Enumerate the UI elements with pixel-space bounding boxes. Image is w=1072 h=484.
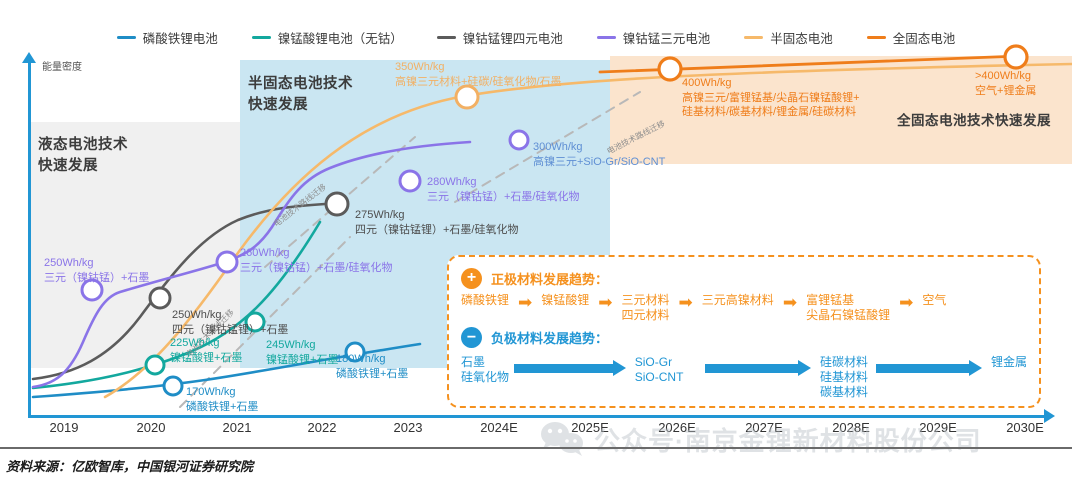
arrow-right-icon-c2: ➡ (679, 294, 693, 311)
label-ncm-280-material: 三元（镍钴锰）+石墨/硅氧化物 (427, 190, 579, 205)
cathode-header: + 正极材料发展趋势： (461, 266, 1027, 290)
label-allsolid-400-material2: 硅基材料/碳基材料/锂金属/硅碳材料 (682, 105, 860, 120)
plus-icon: + (461, 268, 482, 289)
anode-step-2-l1: 硅碳材料 (820, 355, 868, 369)
anode-step-3: 锂金属 (991, 355, 1027, 370)
xtick-2024E: 2024E (480, 420, 518, 435)
label-allsolid-over400-value: >400Wh/kg (975, 69, 1036, 84)
point-quaternary-250[interactable] (150, 288, 170, 308)
cathode-steps: 磷酸铁锂 ➡ 镍锰酸锂 ➡ 三元材料 四元材料 ➡ 三元高镍材料 ➡ 富锂锰基 (461, 293, 1027, 324)
x-axis-ticks: 2019 2020 2021 2022 2023 2024E 2025E 202… (0, 420, 1072, 442)
label-lnmo-245-value: 245Wh/kg (266, 338, 338, 353)
label-ncm-250-value: 250Wh/kg (44, 256, 149, 271)
legend-swatch-lfp (117, 36, 136, 39)
legend-label-quaternary: 镍钴锰锂四元电池 (463, 28, 563, 47)
label-ncm-280-value: 280Wh/kg (427, 175, 579, 190)
label-lfp-180: 180Wh/kg 磷酸铁锂+石墨 (336, 352, 408, 381)
anode-step-1-l1: SiO-Gr (635, 355, 672, 369)
anode-step-0-l2: 硅氧化物 (461, 370, 514, 385)
footer-divider (0, 447, 1072, 449)
anode-steps: 石墨 硅氧化物 SiO-Gr SiO-CNT 硅碳材料 硅基材料 碳基材料 (461, 355, 1027, 401)
point-allsolid-400[interactable] (659, 58, 681, 80)
cathode-step-3-l1: 三元高镍材料 (702, 293, 774, 307)
point-allsolid-over400[interactable] (1005, 46, 1027, 68)
cathode-step-4-l2: 尖晶石镍锰酸锂 (806, 308, 890, 323)
label-ncm-300-value: 300Wh/kg (533, 140, 665, 155)
anode-step-0-l1: 石墨 (461, 355, 485, 369)
anode-step-0: 石墨 硅氧化物 (461, 355, 514, 386)
label-quaternary-275-value: 275Wh/kg (355, 208, 518, 223)
label-lfp-170: 170Wh/kg 磷酸铁锂+石墨 (186, 385, 258, 414)
legend-item-lnmo[interactable]: 镍锰酸锂电池（无钴） (252, 28, 403, 47)
anode-step-2-l3: 碳基材料 (820, 385, 876, 400)
arrow-right-icon-c3: ➡ (783, 294, 797, 311)
label-semisolid-350-value: 350Wh/kg (395, 60, 562, 75)
legend-item-quaternary[interactable]: 镍钴锰锂四元电池 (437, 28, 563, 47)
label-lnmo-225-value: 225Wh/kg (170, 336, 242, 351)
legend-swatch-allsolid (867, 36, 886, 39)
label-allsolid-400-value: 400Wh/kg (682, 76, 860, 91)
chart-legend: 磷酸铁锂电池 镍锰酸锂电池（无钴） 镍钴锰锂四元电池 镍钴锰三元电池 半固态电池… (0, 24, 1072, 50)
label-lfp-180-value: 180Wh/kg (336, 352, 408, 367)
legend-label-ncm: 镍钴锰三元电池 (623, 28, 711, 47)
anode-step-3-l1: 锂金属 (991, 355, 1027, 369)
label-lfp-180-material: 磷酸铁锂+石墨 (336, 367, 408, 382)
label-ncm-260-material: 三元（镍钴锰）+石墨/硅氧化物 (240, 261, 392, 276)
label-lfp-170-material: 磷酸铁锂+石墨 (186, 400, 258, 415)
xtick-2027E: 2027E (745, 420, 783, 435)
materials-trend-box: + 正极材料发展趋势： 磷酸铁锂 ➡ 镍锰酸锂 ➡ 三元材料 四元材料 ➡ 三元 (447, 255, 1041, 408)
arrow-right-icon-a2 (876, 360, 982, 373)
cathode-step-2-l1: 三元材料 (622, 293, 670, 307)
arrow-right-icon-a0 (514, 360, 626, 373)
cathode-step-4: 富锂锰基 尖晶石镍锰酸锂 (806, 293, 890, 324)
xtick-2029E: 2029E (919, 420, 957, 435)
cathode-step-5-l1: 空气 (922, 293, 946, 307)
label-lnmo-225: 225Wh/kg 镍锰酸锂+石墨 (170, 336, 242, 365)
anode-step-2: 硅碳材料 硅基材料 碳基材料 (820, 355, 876, 401)
point-ncm-280[interactable] (400, 171, 420, 191)
label-ncm-250-material: 三元（镍钴锰）+石墨 (44, 271, 149, 286)
label-quaternary-250-value: 250Wh/kg (172, 308, 288, 323)
cathode-step-5: 空气 (922, 293, 946, 308)
label-lnmo-245-material: 镍锰酸锂+石墨 (266, 353, 338, 368)
point-quaternary-275[interactable] (326, 193, 348, 215)
legend-swatch-quaternary (437, 36, 456, 39)
label-allsolid-over400: >400Wh/kg 空气+锂金属 (975, 69, 1036, 98)
cathode-step-4-l1: 富锂锰基 (806, 293, 854, 307)
label-lfp-170-value: 170Wh/kg (186, 385, 258, 400)
legend-item-allsolid[interactable]: 全固态电池 (867, 28, 956, 47)
legend-item-ncm[interactable]: 镍钴锰三元电池 (597, 28, 711, 47)
xtick-2021: 2021 (223, 420, 252, 435)
label-ncm-260: 260Wh/kg 三元（镍钴锰）+石墨/硅氧化物 (240, 246, 392, 275)
label-allsolid-400: 400Wh/kg 高镍三元/富锂锰基/尖晶石镍锰酸锂+ 硅基材料/碳基材料/锂金… (682, 76, 860, 120)
point-ncm-260[interactable] (217, 252, 237, 272)
label-quaternary-250: 250Wh/kg 四元（镍钴锰锂）+石墨 (172, 308, 288, 337)
label-allsolid-over400-material: 空气+锂金属 (975, 84, 1036, 99)
xtick-2023: 2023 (394, 420, 423, 435)
legend-item-semisolid[interactable]: 半固态电池 (744, 28, 833, 47)
chart-root: 磷酸铁锂电池 镍锰酸锂电池（无钴） 镍钴锰锂四元电池 镍钴锰三元电池 半固态电池… (0, 0, 1072, 484)
plot-area: 液态电池技术 快速发展 半固态电池技术 快速发展 全固态电池技术快速发展 能量密… (0, 52, 1072, 420)
label-semisolid-350: 350Wh/kg 高镍三元材料+硅碳/硅氧化物/石墨 (395, 60, 562, 89)
label-lnmo-225-material: 镍锰酸锂+石墨 (170, 351, 242, 366)
legend-swatch-semisolid (744, 36, 763, 39)
cathode-step-0-l1: 磷酸铁锂 (461, 293, 509, 307)
xtick-2019: 2019 (50, 420, 79, 435)
arrow-right-icon-a1 (705, 360, 811, 373)
minus-icon: − (461, 327, 482, 348)
anode-header: − 负极材料发展趋势： (461, 326, 1027, 350)
point-semisolid-350[interactable] (456, 86, 478, 108)
label-quaternary-275-material: 四元（镍钴锰锂）+石墨/硅氧化物 (355, 223, 518, 238)
point-ncm-300[interactable] (510, 131, 528, 149)
label-semisolid-350-material: 高镍三元材料+硅碳/硅氧化物/石墨 (395, 75, 562, 90)
legend-label-lfp: 磷酸铁锂电池 (143, 28, 218, 47)
cathode-step-1-l1: 镍锰酸锂 (541, 293, 589, 307)
legend-swatch-lnmo (252, 36, 271, 39)
label-ncm-300: 300Wh/kg 高镍三元+SiO-Gr/SiO-CNT (533, 140, 665, 169)
label-ncm-300-material: 高镍三元+SiO-Gr/SiO-CNT (533, 155, 665, 170)
cathode-title: 正极材料发展趋势： (491, 269, 608, 288)
label-ncm-250: 250Wh/kg 三元（镍钴锰）+石墨 (44, 256, 149, 285)
xtick-2025E: 2025E (571, 420, 609, 435)
label-allsolid-400-material: 高镍三元/富锂锰基/尖晶石镍锰酸锂+ (682, 91, 860, 106)
anode-step-1: SiO-Gr SiO-CNT (635, 355, 705, 386)
xtick-2028E: 2028E (832, 420, 870, 435)
label-quaternary-250-material: 四元（镍钴锰锂）+石墨 (172, 323, 288, 338)
arrow-right-icon-c0: ➡ (518, 294, 532, 311)
legend-label-allsolid: 全固态电池 (893, 28, 956, 47)
xtick-2022: 2022 (308, 420, 337, 435)
xtick-2030E: 2030E (1006, 420, 1044, 435)
cathode-step-3: 三元高镍材料 (702, 293, 774, 308)
legend-label-lnmo: 镍锰酸锂电池（无钴） (278, 28, 403, 47)
xtick-2026E: 2026E (658, 420, 696, 435)
cathode-step-0: 磷酸铁锂 (461, 293, 509, 308)
arrow-right-icon-c1: ➡ (598, 294, 612, 311)
label-quaternary-275: 275Wh/kg 四元（镍钴锰锂）+石墨/硅氧化物 (355, 208, 518, 237)
source-note: 资料来源：亿欧智库，中国银河证券研究院 (6, 456, 253, 475)
anode-step-1-l2: SiO-CNT (635, 370, 705, 385)
label-ncm-260-value: 260Wh/kg (240, 246, 392, 261)
point-lfp-170[interactable] (164, 377, 182, 395)
cathode-step-1: 镍锰酸锂 (541, 293, 589, 308)
cathode-step-2-l2: 四元材料 (622, 308, 670, 323)
legend-label-semisolid: 半固态电池 (770, 28, 833, 47)
cathode-step-2: 三元材料 四元材料 (622, 293, 670, 324)
arrow-right-icon-c4: ➡ (899, 294, 913, 311)
legend-swatch-ncm (597, 36, 616, 39)
anode-step-2-l2: 硅基材料 (820, 370, 876, 385)
label-lnmo-245: 245Wh/kg 镍锰酸锂+石墨 (266, 338, 338, 367)
anode-title: 负极材料发展趋势： (491, 328, 608, 347)
xtick-2020: 2020 (137, 420, 166, 435)
label-ncm-280: 280Wh/kg 三元（镍钴锰）+石墨/硅氧化物 (427, 175, 579, 204)
point-lnmo-225[interactable] (146, 356, 164, 374)
legend-item-lfp[interactable]: 磷酸铁锂电池 (117, 28, 218, 47)
